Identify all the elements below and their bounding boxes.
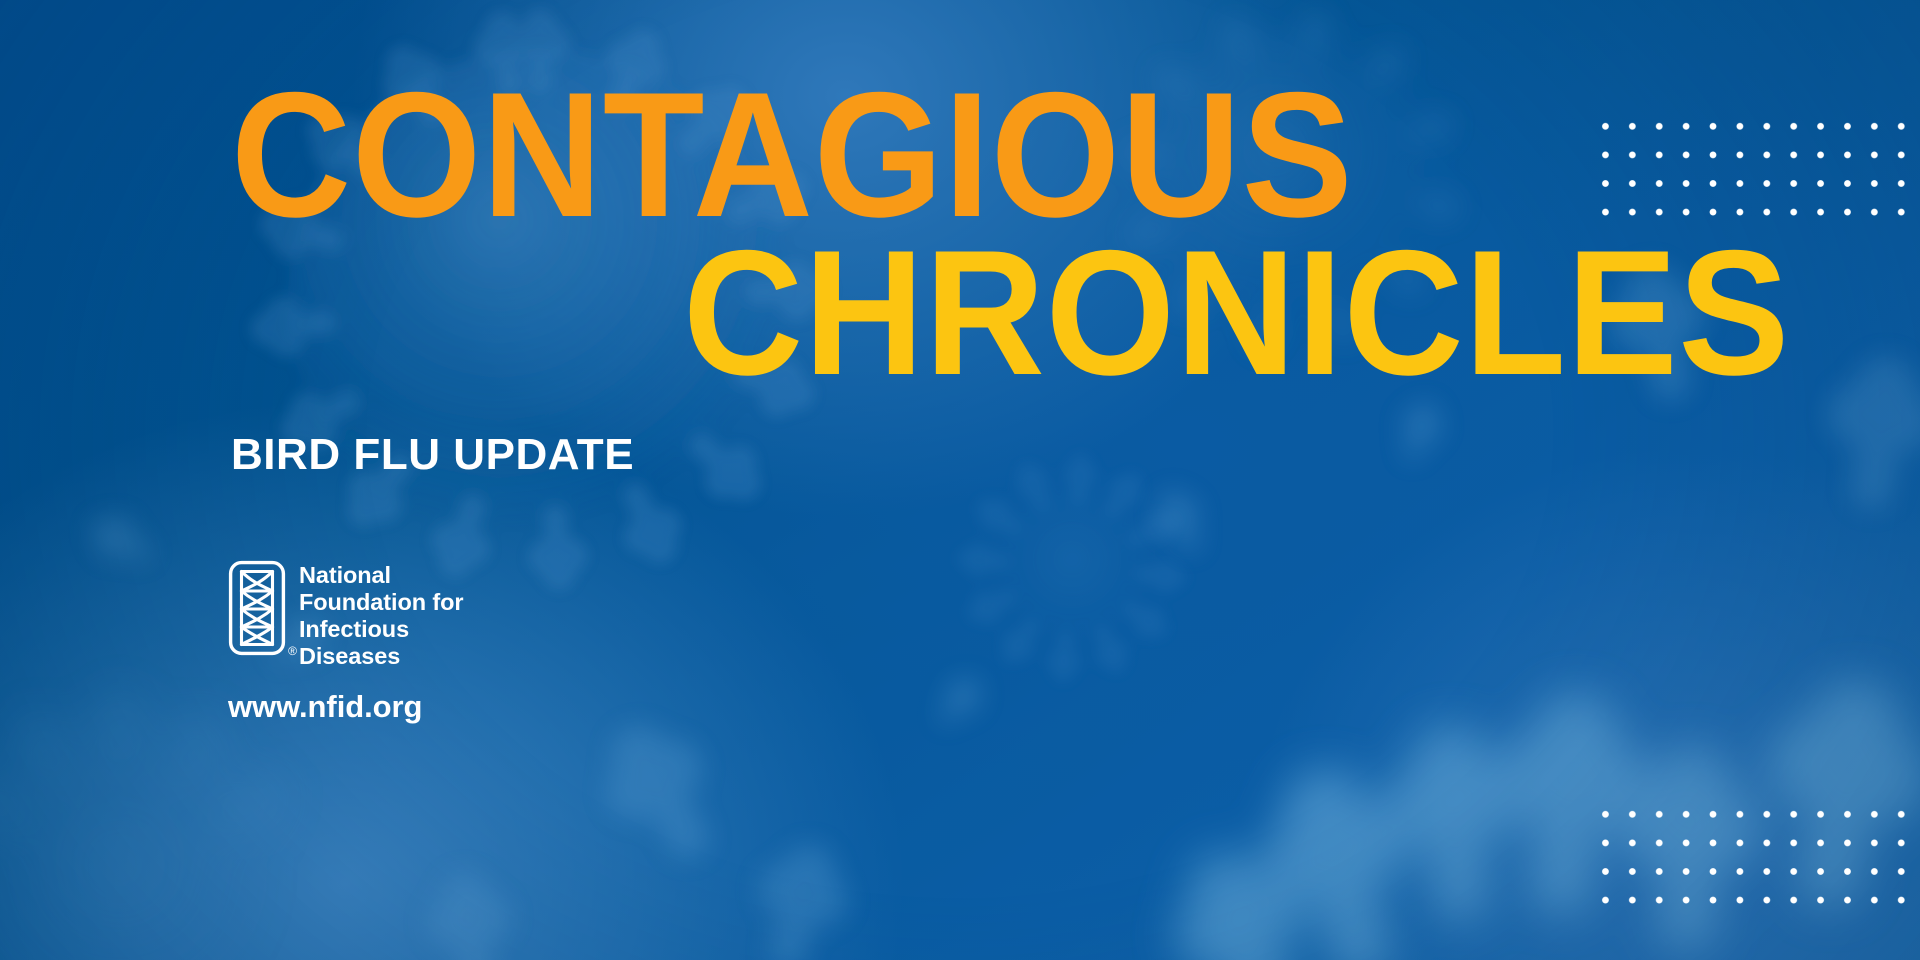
logo-name-line-2: Foundation for [299,589,463,616]
logo-name-line-3: Infectious [299,616,463,643]
banner-canvas: CONTAGIOUS CHRONICLES BIRD FLU UPDATE [0,0,1920,960]
logo-name-line-1: National [299,562,463,589]
dot-grid-bottom-right [1592,800,1920,915]
nfid-organization-name: National Foundation for Infectious Disea… [299,560,463,671]
subtitle-bird-flu-update: BIRD FLU UPDATE [231,430,634,480]
dot-grid-top-right [1592,112,1920,227]
logo-name-line-4: Diseases [299,643,463,670]
registered-trademark-icon: ® [288,645,297,657]
nfid-website-url[interactable]: www.nfid.org [228,689,648,725]
nfid-dna-helix-icon: ® [228,560,286,656]
nfid-logo-lockup: ® National Foundation for Infectious Dis… [228,560,648,725]
logo-row: ® National Foundation for Infectious Dis… [228,560,648,671]
